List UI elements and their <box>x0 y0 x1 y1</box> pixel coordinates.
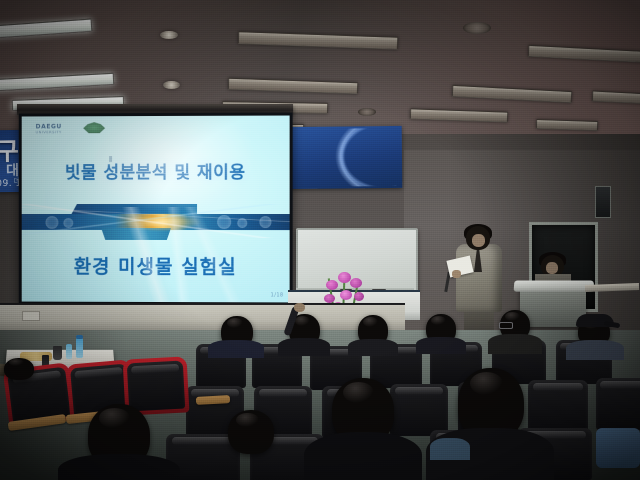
slide-decorative-band <box>22 204 290 238</box>
orchid-flower <box>350 278 362 288</box>
head-highlight <box>470 372 503 395</box>
seat-highlight <box>600 381 640 389</box>
auditorium-photo: 구대 발표회 대구 발표회 09. 11. 20(금) : 대구대학교 환경공학… <box>0 0 640 480</box>
water-bottle-icon <box>66 344 72 359</box>
orchid-flower <box>338 272 351 283</box>
eyeglasses-icon <box>499 322 513 329</box>
head-highlight <box>99 408 130 428</box>
logo-subtext: UNIVERSITY <box>36 130 88 137</box>
wall-control-panel[interactable] <box>595 186 611 218</box>
slide-page-number: 1/18 <box>271 292 284 298</box>
slide-title: 빗물 성분분석 및 재이용 <box>22 158 290 184</box>
seat-highlight <box>172 437 234 445</box>
water-bottle-icon <box>76 338 83 358</box>
seat-highlight <box>533 383 583 391</box>
orchid-flower <box>354 292 364 301</box>
presentation-slide: DAEGU UNIVERSITY 빗물 성분분석 및 재이용 환경 미생물 실험… <box>22 116 290 303</box>
ceiling-vent-icon <box>463 22 491 34</box>
audience-shoulders <box>566 340 624 360</box>
seat[interactable] <box>127 361 185 412</box>
downlight-icon <box>160 31 178 39</box>
wall-outlet-icon <box>22 311 40 321</box>
seat[interactable] <box>528 380 588 432</box>
orchid-flower <box>340 290 352 300</box>
orchid-flower <box>326 280 338 290</box>
head-highlight <box>505 312 520 322</box>
head-highlight <box>363 317 378 327</box>
orchid-flower <box>324 294 335 303</box>
audience-shoulders <box>208 340 264 358</box>
stage-front-panel <box>0 305 405 333</box>
audience-hand <box>294 303 305 312</box>
seat[interactable] <box>390 384 448 436</box>
audience-shoulders <box>278 338 330 356</box>
bottle-cap-icon <box>76 335 83 339</box>
audience-collar <box>430 438 470 460</box>
head-highlight <box>227 318 243 328</box>
audience-shoulders-foreground <box>58 454 180 480</box>
head-highlight <box>343 382 374 403</box>
podium-person-face <box>546 262 558 274</box>
head-highlight <box>236 413 259 427</box>
presenter-face <box>472 234 485 247</box>
audience-jeans <box>596 428 640 468</box>
audience-head <box>4 358 34 380</box>
projection-screen: DAEGU UNIVERSITY 빗물 성분분석 및 재이용 환경 미생물 실험… <box>19 112 293 309</box>
presenter-hand <box>452 270 461 278</box>
university-logo: DAEGU UNIVERSITY <box>36 122 106 138</box>
seat[interactable] <box>596 378 640 430</box>
ceiling-vent-icon <box>358 108 376 116</box>
audience-head <box>228 410 274 454</box>
audience-shoulders <box>488 334 542 354</box>
audience-shoulders <box>416 337 466 354</box>
head-highlight <box>295 316 311 326</box>
lectern-top <box>514 280 595 291</box>
audience-shoulders-foreground <box>304 432 422 480</box>
seat-highlight <box>395 387 444 395</box>
downlight-icon <box>163 81 180 89</box>
seat-highlight <box>259 389 308 397</box>
ceiling-fixture <box>536 119 598 131</box>
audience-shoulders <box>348 339 398 356</box>
band-light-streaks <box>22 204 290 238</box>
slide-subtitle: 환경 미생물 실험실 <box>22 252 290 281</box>
head-highlight <box>9 359 24 366</box>
head-highlight <box>431 316 446 326</box>
paper-cup-icon <box>53 346 62 360</box>
